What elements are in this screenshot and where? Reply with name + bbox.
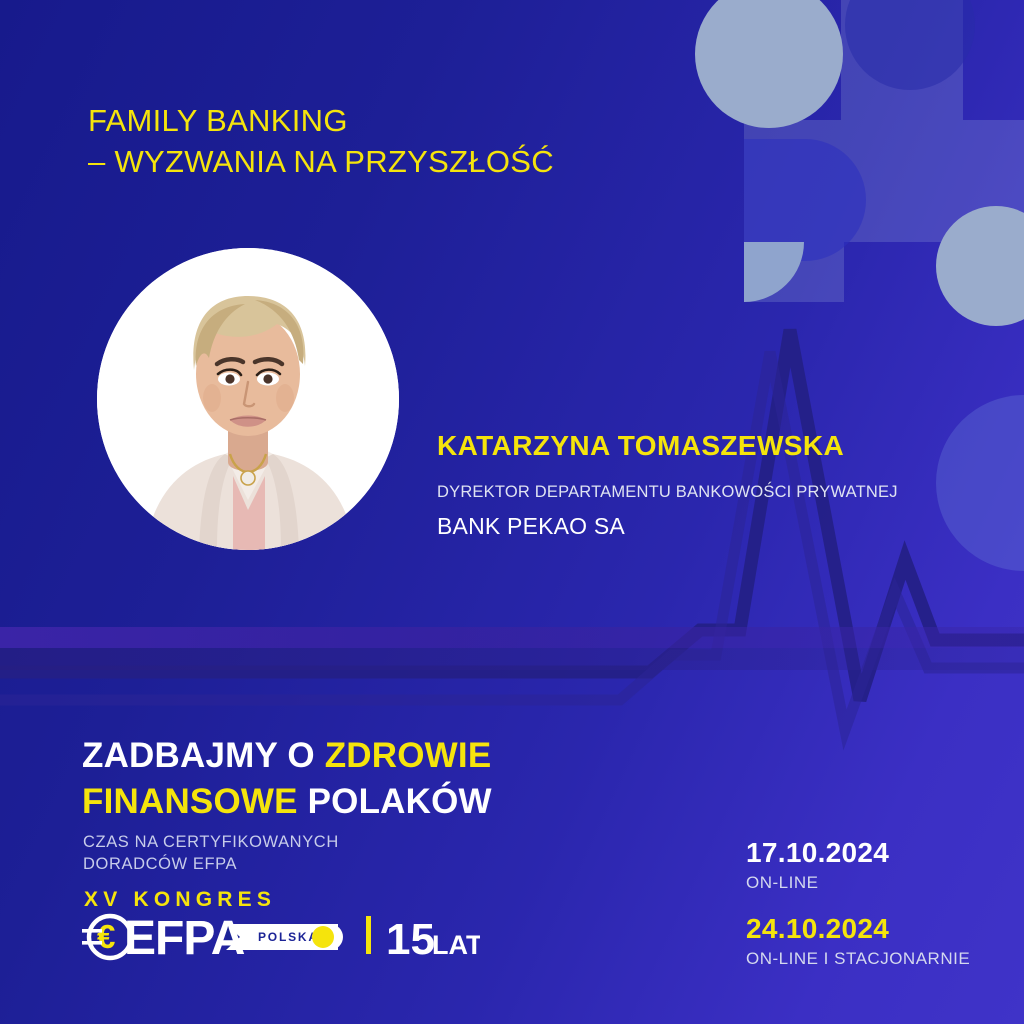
- event-date-block: 24.10.2024 ON-LINE I STACJONARNIE: [746, 914, 970, 968]
- logo-euro-glyph: €: [97, 918, 115, 955]
- logo-kicker-text: XV KONGRES: [84, 888, 276, 911]
- event-mode: ON-LINE I STACJONARNIE: [746, 950, 970, 969]
- campaign-slogan: ZADBAJMY O ZDROWIE FINANSOWE POLAKÓW: [82, 733, 492, 825]
- slogan-highlight: ZDROWIE: [325, 736, 492, 775]
- logo-anniversary-number: 15: [386, 915, 435, 964]
- slogan-text: POLAKÓW: [298, 782, 492, 821]
- slogan-line-1: ZADBAJMY O ZDROWIE: [82, 733, 492, 779]
- event-date: 24.10.2024: [746, 914, 970, 945]
- logo-badge-text: POLSKA: [258, 930, 319, 944]
- event-mode: ON-LINE: [746, 874, 889, 893]
- deco-square: [744, 242, 844, 302]
- deco-circle-dark: [845, 0, 975, 90]
- speaker-organization: BANK PEKAO SA: [437, 513, 625, 540]
- divider-band-secondary: [0, 648, 1024, 670]
- speaker-avatar: [97, 248, 399, 550]
- deco-quarter-top: [744, 139, 866, 261]
- divider-band: [0, 627, 1024, 648]
- slogan-line-2: FINANSOWE POLAKÓW: [82, 779, 492, 825]
- campaign-subtitle: CZAS NA CERTYFIKOWANYCH DORADCÓW EFPA: [83, 832, 339, 876]
- deco-circle: [695, 0, 843, 128]
- efpa-congress-logo: XV KONGRES POLSKA € EFPA 15 LAT: [80, 888, 480, 974]
- portrait-illustration: [97, 248, 399, 550]
- logo-separator: [366, 916, 371, 954]
- slogan-text: ZADBAJMY O: [82, 736, 325, 775]
- deco-square: [841, 0, 963, 120]
- deco-square: [939, 120, 1024, 242]
- event-promo-poster: FAMILY BANKING – WYZWANIA NA PRZYSZŁOŚĆ: [0, 0, 1024, 1024]
- deco-square: [744, 120, 939, 242]
- logo-badge-dot: [312, 926, 334, 948]
- event-date-block: 17.10.2024 ON-LINE: [746, 838, 889, 892]
- deco-circle: [936, 206, 1024, 326]
- speaker-name: KATARZYNA TOMASZEWSKA: [437, 430, 844, 462]
- deco-half-circle: [936, 395, 1024, 571]
- event-date: 17.10.2024: [746, 838, 889, 869]
- page-title: FAMILY BANKING – WYZWANIA NA PRZYSZŁOŚĆ: [88, 101, 554, 183]
- logo-wordmark-text: EFPA: [124, 912, 245, 965]
- logo-anniversary-unit: LAT: [432, 930, 480, 960]
- slogan-highlight: FINANSOWE: [82, 782, 298, 821]
- speaker-role: DYREKTOR DEPARTAMENTU BANKOWOŚCI PRYWATN…: [437, 483, 898, 502]
- deco-quarter-circle: [744, 242, 804, 302]
